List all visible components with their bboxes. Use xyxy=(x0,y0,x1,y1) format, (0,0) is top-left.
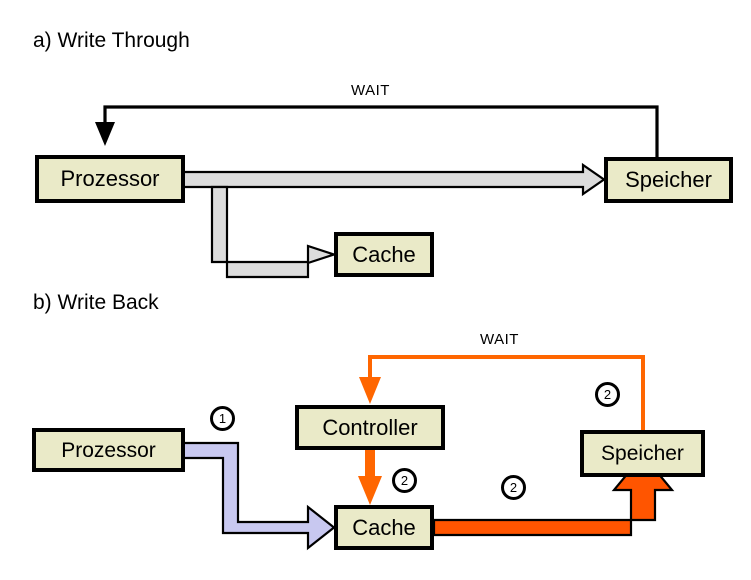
step-marker-2-controller: 2 xyxy=(392,468,417,493)
step-marker-1: 1 xyxy=(210,406,235,431)
node-label: Controller xyxy=(322,417,417,439)
arrow-controller-to-cache-b xyxy=(358,450,382,505)
node-label: Speicher xyxy=(601,443,684,464)
cache-write-policy-diagram: a) Write Through WAIT Prozessor Cache Sp… xyxy=(0,0,751,580)
panel-b-arrow-layer xyxy=(0,0,751,580)
node-label: Prozessor xyxy=(61,440,156,461)
wait-label-b: WAIT xyxy=(480,331,519,348)
node-prozessor-b[interactable]: Prozessor xyxy=(32,428,185,472)
node-cache-b[interactable]: Cache xyxy=(334,505,434,550)
node-label: Cache xyxy=(352,517,416,539)
arrow-processor-to-cache-b xyxy=(183,443,334,548)
step-marker-2-middle: 2 xyxy=(501,475,526,500)
node-controller-b[interactable]: Controller xyxy=(295,405,445,450)
step-marker-2-memory: 2 xyxy=(595,382,620,407)
node-speicher-b[interactable]: Speicher xyxy=(580,430,705,477)
